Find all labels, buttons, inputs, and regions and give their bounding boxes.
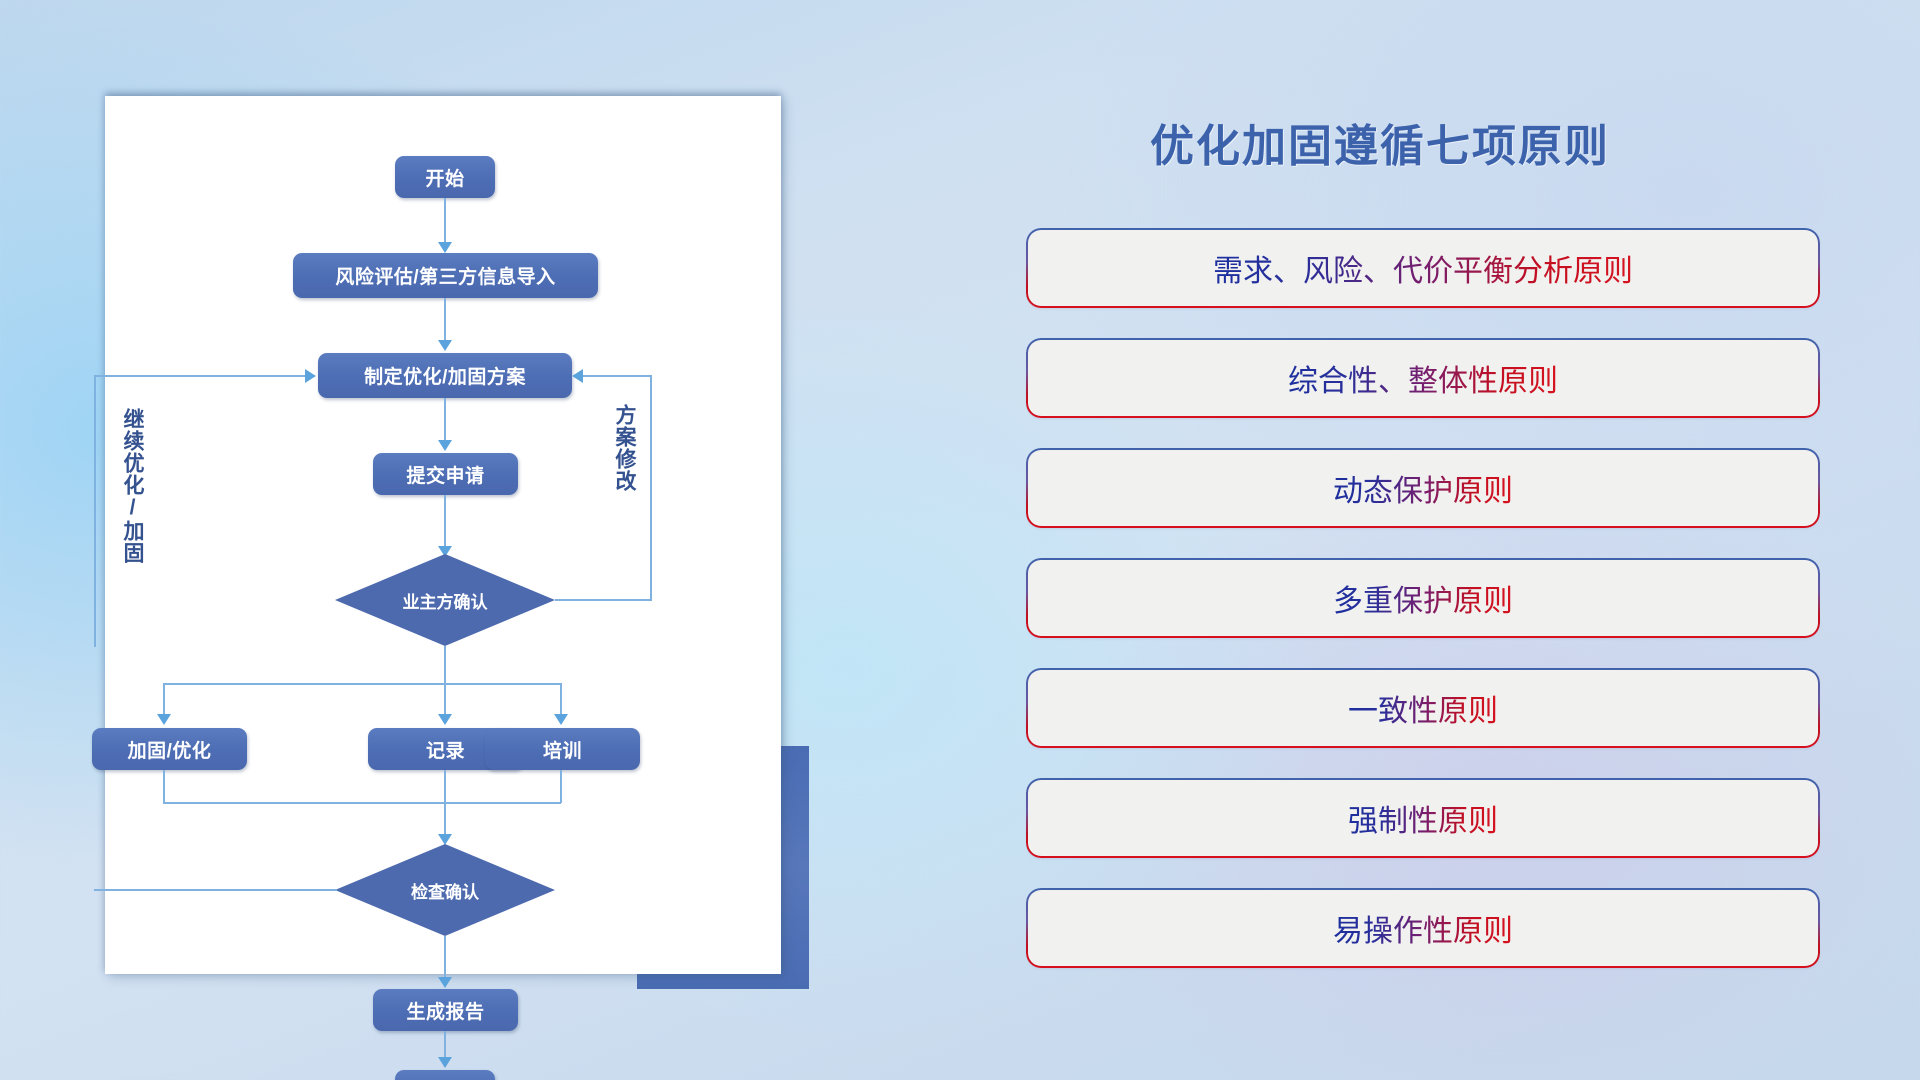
node-training-label: 培训 bbox=[543, 736, 582, 763]
connector-owner-fan-stem bbox=[444, 646, 446, 684]
connector-training-down bbox=[560, 770, 562, 803]
principle-label: 一致性原则 bbox=[1348, 686, 1498, 730]
arrow-fan-to-record bbox=[438, 714, 452, 725]
principles-title: 优化加固遵循七项原则 bbox=[1150, 110, 1610, 174]
connector-submit-to-owner bbox=[444, 495, 446, 552]
node-risk-assessment[interactable]: 风险评估/第三方信息导入 bbox=[293, 253, 598, 298]
principle-item[interactable]: 需求、风险、代价平衡分析原则 bbox=[1028, 230, 1818, 306]
node-generate-report[interactable]: 生成报告 bbox=[373, 989, 518, 1031]
connector-risk-to-plan bbox=[444, 298, 446, 346]
node-training[interactable]: 培训 bbox=[485, 728, 640, 770]
connector-right-riser bbox=[650, 375, 652, 601]
principles-list: 需求、风险、代价平衡分析原则 综合性、整体性原则 动态保护原则 多重保护原则 一… bbox=[1028, 230, 1818, 1000]
connector-left-riser bbox=[94, 375, 96, 647]
node-submit-application[interactable]: 提交申请 bbox=[373, 453, 518, 495]
node-reinforce-optimize[interactable]: 加固/优化 bbox=[92, 728, 247, 770]
flowchart-panel: 开始 风险评估/第三方信息导入 制定优化/加固方案 提交申请 bbox=[0, 0, 1010, 1080]
node-submit-application-label: 提交申请 bbox=[406, 461, 484, 488]
node-owner-confirm-label: 业主方确认 bbox=[403, 588, 488, 613]
node-plan-label: 制定优化/加固方案 bbox=[364, 362, 526, 389]
node-record-label: 记录 bbox=[426, 736, 465, 763]
node-risk-assessment-label: 风险评估/第三方信息导入 bbox=[335, 262, 555, 289]
principles-panel: 优化加固遵循七项原则 需求、风险、代价平衡分析原则 综合性、整体性原则 动态保护… bbox=[1010, 0, 1920, 1080]
node-check-confirm[interactable]: 检查确认 bbox=[335, 844, 555, 936]
principle-item[interactable]: 易操作性原则 bbox=[1028, 890, 1818, 966]
principle-label: 多重保护原则 bbox=[1333, 576, 1513, 620]
flowchart-diagram: 开始 风险评估/第三方信息导入 制定优化/加固方案 提交申请 bbox=[105, 96, 781, 974]
principle-item[interactable]: 综合性、整体性原则 bbox=[1028, 340, 1818, 416]
connector-check-to-left bbox=[94, 889, 337, 891]
connector-fanin-bus bbox=[163, 802, 561, 804]
node-end[interactable]: 结束 bbox=[395, 1070, 495, 1080]
arrow-fan-to-reinforce bbox=[157, 714, 171, 725]
connector-plan-to-submit bbox=[444, 398, 446, 446]
arrow-fan-to-training bbox=[554, 714, 568, 725]
arrow-report-to-end bbox=[438, 1057, 452, 1068]
principle-label: 易操作性原则 bbox=[1333, 906, 1513, 950]
principle-item[interactable]: 动态保护原则 bbox=[1028, 450, 1818, 526]
node-plan[interactable]: 制定优化/加固方案 bbox=[318, 353, 572, 398]
connector-owner-to-right bbox=[555, 599, 652, 601]
principle-label: 强制性原则 bbox=[1348, 796, 1498, 840]
arrow-risk-to-plan bbox=[438, 340, 452, 351]
connector-start-to-risk bbox=[444, 198, 446, 248]
principle-item[interactable]: 强制性原则 bbox=[1028, 780, 1818, 856]
side-label-continue-optimize: 继续优化/加固 bbox=[121, 408, 143, 564]
side-label-plan-revision: 方案修改 bbox=[613, 404, 635, 492]
connector-owner-fan-bus bbox=[163, 683, 561, 685]
arrow-right-into-plan bbox=[572, 369, 583, 383]
node-start[interactable]: 开始 bbox=[395, 156, 495, 198]
connector-record-down bbox=[444, 770, 446, 840]
arrow-left-into-plan bbox=[305, 369, 316, 383]
arrow-start-to-risk bbox=[438, 242, 452, 253]
node-check-confirm-label: 检查确认 bbox=[411, 878, 479, 903]
principle-label: 需求、风险、代价平衡分析原则 bbox=[1213, 246, 1633, 290]
arrow-plan-to-submit bbox=[438, 440, 452, 451]
node-start-label: 开始 bbox=[425, 164, 464, 191]
connector-left-to-plan bbox=[94, 375, 307, 377]
node-owner-confirm[interactable]: 业主方确认 bbox=[335, 554, 555, 646]
connector-right-to-plan bbox=[583, 375, 652, 377]
connector-reinforce-down bbox=[163, 770, 165, 803]
principle-item[interactable]: 一致性原则 bbox=[1028, 670, 1818, 746]
node-generate-report-label: 生成报告 bbox=[406, 997, 484, 1024]
principle-item[interactable]: 多重保护原则 bbox=[1028, 560, 1818, 636]
connector-check-to-report bbox=[444, 936, 446, 983]
node-reinforce-optimize-label: 加固/优化 bbox=[128, 736, 212, 763]
arrow-check-to-report bbox=[438, 977, 452, 988]
principle-label: 动态保护原则 bbox=[1333, 466, 1513, 510]
principle-label: 综合性、整体性原则 bbox=[1288, 356, 1558, 400]
flowchart-card: 开始 风险评估/第三方信息导入 制定优化/加固方案 提交申请 bbox=[105, 96, 781, 974]
